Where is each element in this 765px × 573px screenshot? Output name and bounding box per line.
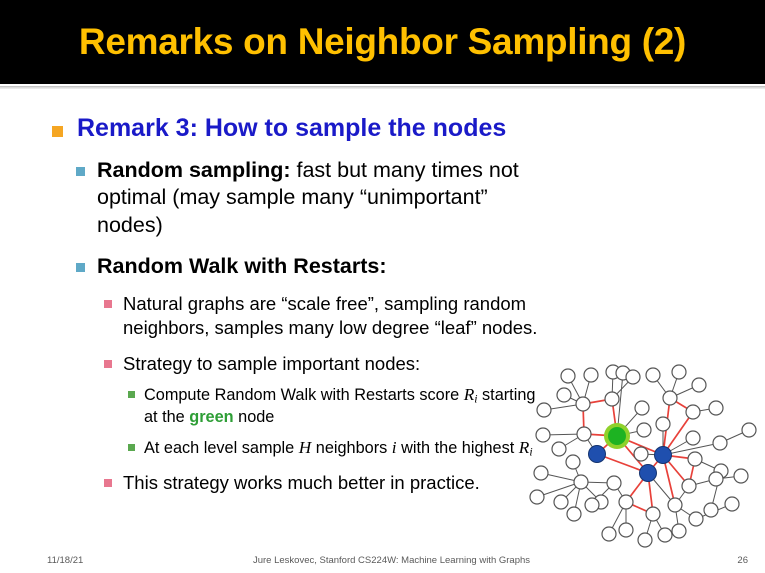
bullet-level2-lead: Random sampling:: [97, 158, 291, 182]
bullet-level1-remark3: Remark 3: How to sample the nodes: [52, 114, 765, 143]
footer-page-number: 26: [737, 555, 748, 566]
slide-title-bar: Remarks on Neighbor Sampling (2): [0, 0, 765, 84]
square-bullet-icon: [128, 391, 135, 398]
square-bullet-icon: [128, 444, 135, 451]
sampled-node: [655, 447, 672, 464]
math-variable-H: H: [299, 438, 311, 457]
math-variable-R: R: [464, 385, 475, 404]
graph-nodes-normal: [530, 365, 756, 547]
bullet-level3-natural-graphs: Natural graphs are “scale free”, samplin…: [104, 292, 765, 339]
bullet-level4-text: At each level sample H neighbors i with …: [144, 437, 539, 460]
graph-node-start: [604, 423, 630, 449]
text-part: with the highest: [397, 439, 519, 457]
text-part: At each level sample: [144, 439, 299, 457]
bullet-level2-text: Random sampling: fast but many times not…: [97, 157, 552, 239]
square-bullet-icon: [104, 479, 112, 487]
text-part: node: [234, 408, 275, 426]
bullet-level1-label: Remark 3: How to sample the nodes: [77, 114, 765, 143]
square-bullet-icon: [76, 167, 85, 176]
bullet-level3-label: Natural graphs are “scale free”, samplin…: [123, 292, 543, 339]
square-bullet-icon: [104, 360, 112, 368]
bullet-level2-random-sampling: Random sampling: fast but many times not…: [76, 157, 765, 239]
square-bullet-icon: [76, 263, 85, 272]
square-bullet-icon: [52, 126, 63, 137]
square-bullet-icon: [104, 300, 112, 308]
title-divider: [0, 86, 765, 89]
page-title: Remarks on Neighbor Sampling (2): [79, 21, 686, 63]
text-part: neighbors: [311, 439, 392, 457]
slide-footer: 11/18/21 Jure Leskovec, Stanford CS224W:…: [0, 552, 765, 573]
bullet-level2-random-walk-restarts: Random Walk with Restarts:: [76, 253, 765, 280]
bullet-level2-text: Random Walk with Restarts:: [97, 253, 552, 280]
bullet-level2-lead: Random Walk with Restarts:: [97, 254, 387, 278]
bullet-level4-text: Compute Random Walk with Restarts score …: [144, 384, 539, 428]
random-walk-graph-illustration: [513, 362, 761, 548]
bullet-level3-label: This strategy works much better in pract…: [123, 471, 543, 495]
bullet-level3-label: Strategy to sample important nodes:: [123, 352, 543, 376]
sampled-node: [589, 446, 606, 463]
text-part: Compute Random Walk with Restarts score: [144, 386, 464, 404]
footer-attribution: Jure Leskovec, Stanford CS224W: Machine …: [0, 555, 765, 566]
highlight-green-word: green: [189, 408, 233, 426]
sampled-node: [640, 465, 657, 482]
